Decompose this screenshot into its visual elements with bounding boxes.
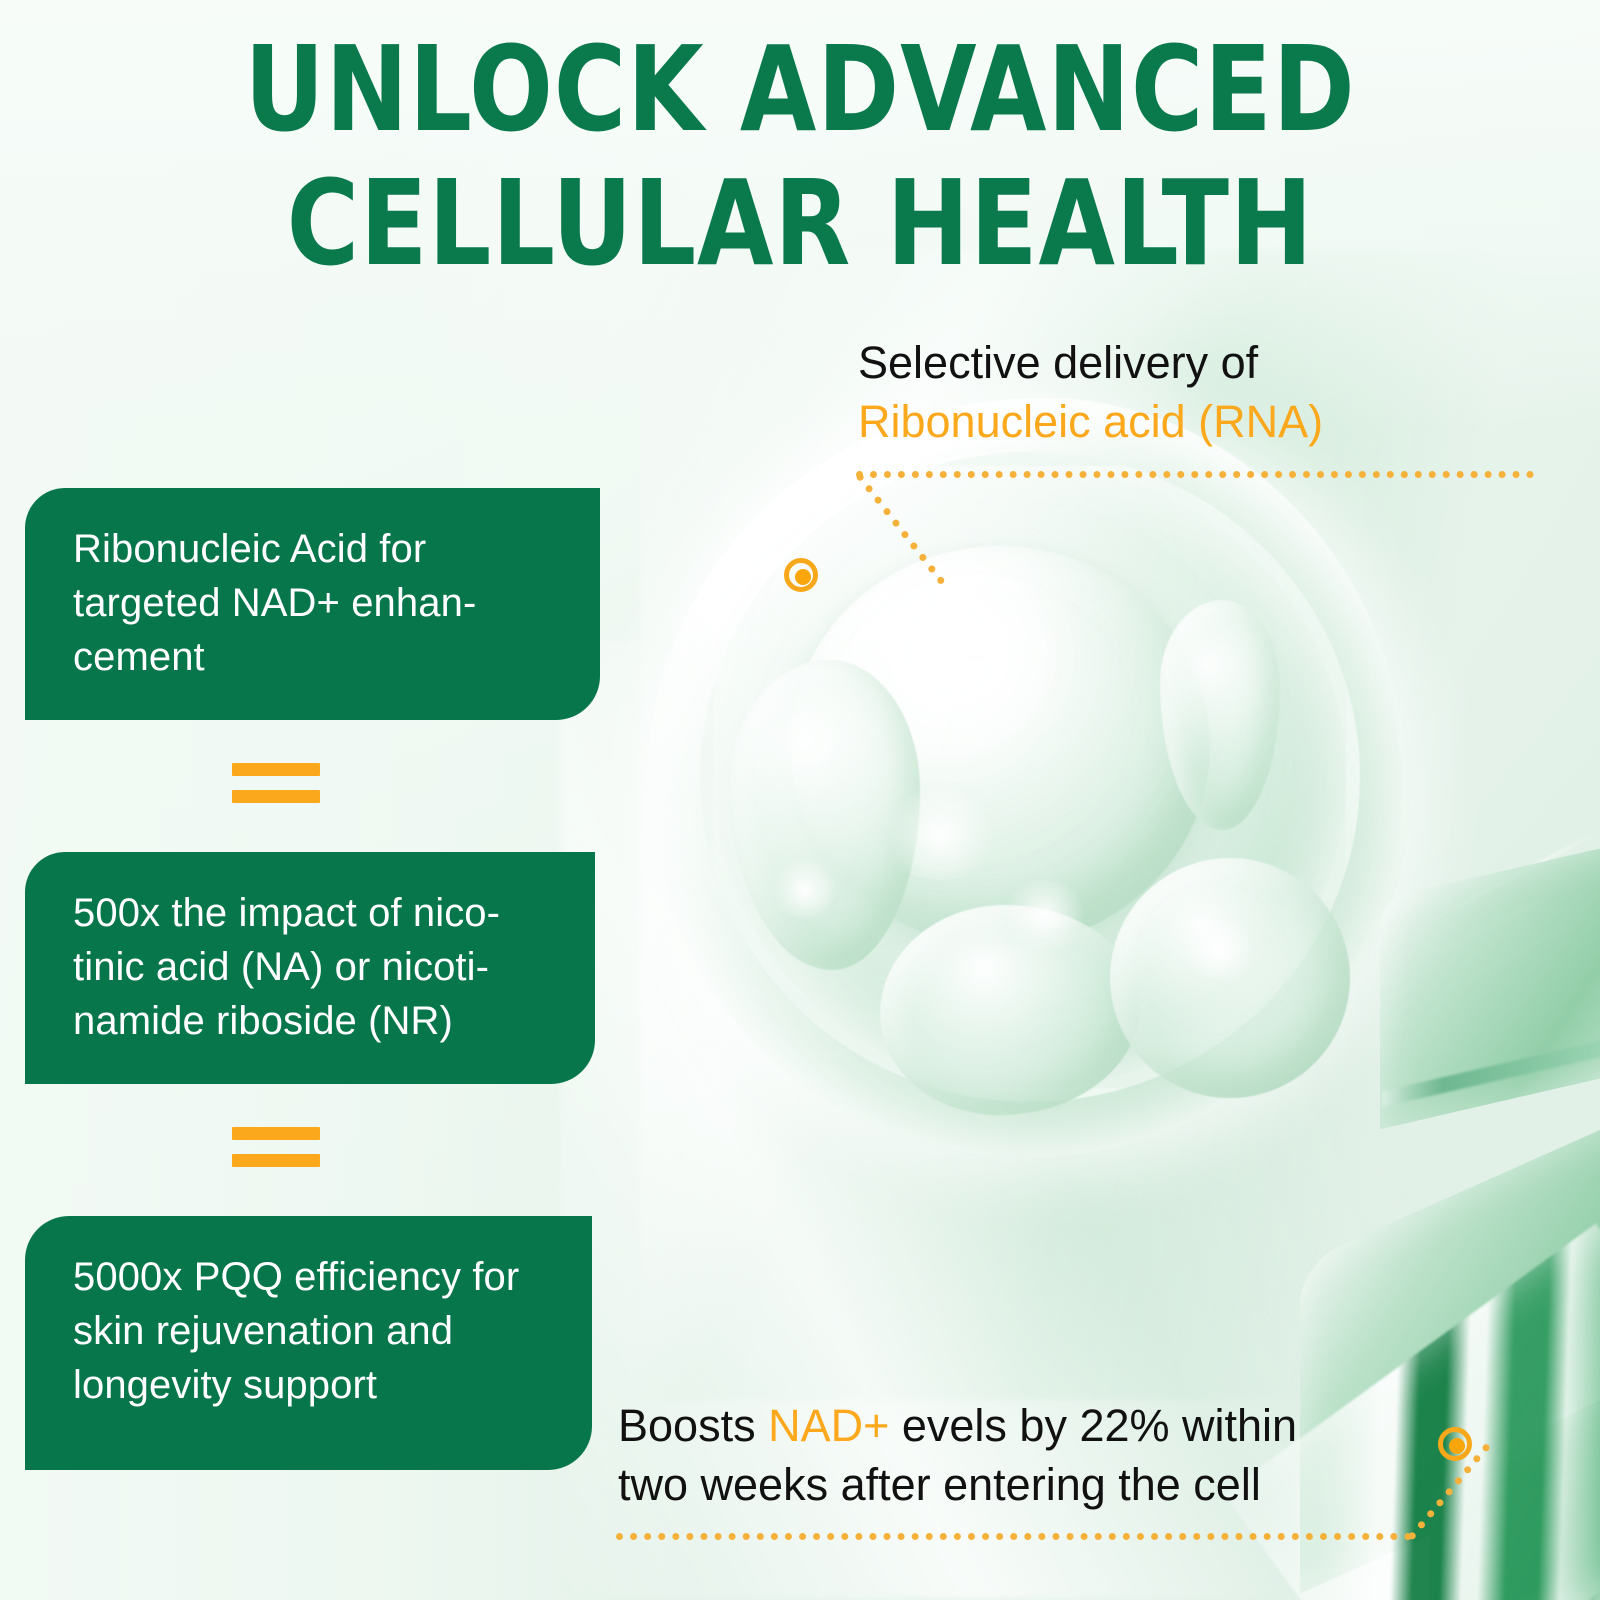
vesicle-shape [880,905,1140,1115]
vesicle-shape [1110,858,1350,1098]
cell-inner-rim-shape [700,452,1360,1102]
equals-bar [232,790,320,803]
callout-top-line-1: Selective delivery of [858,333,1323,392]
callout-marker-dot-bottom [1438,1427,1472,1461]
callout-top-line-2: Ribonucleic acid (RNA) [858,392,1323,451]
highlight-glint-icon [1180,920,1260,980]
vesicle-shape [730,660,920,970]
highlight-glint-icon [770,860,840,920]
highlight-glint-icon [880,790,1000,880]
equals-bar [232,763,320,776]
light-streak-icon [1412,831,1599,932]
green-glass-slab-edge [1382,1013,1600,1107]
poster-canvas: UNLOCK ADVANCED CELLULAR HEALTH Selectiv… [0,0,1600,1600]
equals-sign-icon-2 [232,1127,320,1167]
callout-bottom-highlight: NAD+ [768,1400,889,1451]
dotted-leader-line-bottom [616,1533,1412,1540]
dotted-leader-diagonal-top [855,472,945,585]
equals-sign-icon-1 [232,763,320,803]
equals-bar [232,1127,320,1140]
page-title: UNLOCK ADVANCED CELLULAR HEALTH [56,22,1544,290]
green-glass-slab [1300,1077,1600,1594]
callout-bottom-prefix: Boosts [618,1400,768,1451]
green-glass-slab [1380,821,1600,1129]
highlight-glint-icon [1000,880,1090,950]
equals-bar [232,1154,320,1167]
callout-bottom: Boosts NAD+ evels by 22% within two week… [618,1396,1297,1514]
callout-top: Selective delivery of Ribonucleic acid (… [858,333,1323,451]
callout-marker-dot-top [784,558,818,592]
feature-card-ribonucleic-acid: Ribonucleic Acid for targeted NAD+ enhan… [25,488,600,720]
dotted-leader-line-top [856,471,1534,478]
light-streak-icon [1430,873,1590,960]
callout-top-highlight: Ribonucleic acid (RNA) [858,396,1323,447]
light-streak-icon [1449,913,1592,991]
cell-membrane-shape [648,398,1408,1158]
vesicle-shape [790,546,1210,946]
vesicle-shape [1160,600,1280,830]
feature-card-5000x-pqq: 5000x PQQ efficiency for skin rejuvenati… [25,1216,592,1470]
feature-card-500x-impact: 500x the impact of nico- tinic acid (NA)… [25,852,595,1084]
